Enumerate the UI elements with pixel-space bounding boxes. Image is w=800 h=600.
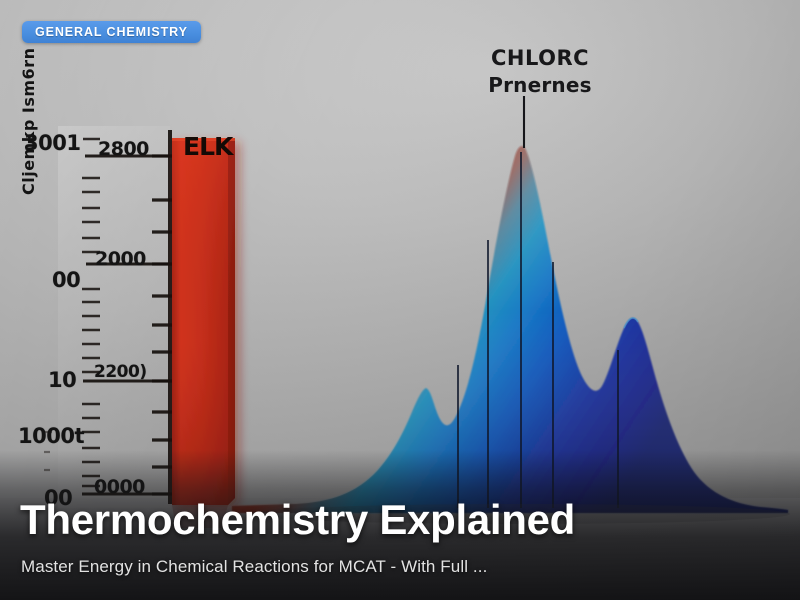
axis-spine (168, 130, 172, 504)
category-badge[interactable]: GENERAL CHEMISTRY (22, 21, 201, 43)
peak-callout-line-2: Prnernes (440, 72, 640, 99)
page-subtitle: Master Energy in Chemical Reactions for … (21, 557, 487, 577)
category-badge-label: GENERAL CHEMISTRY (35, 25, 188, 39)
y-axis-tick-label-2800: 2800 (98, 138, 149, 160)
y-axis-title: Cljemkp Ism6rn (19, 48, 38, 195)
y-axis-outer-label-3: 1000t (18, 424, 84, 448)
y-axis-outer-label-2: 10 (48, 368, 76, 392)
peak-callout: CHLORC Prnernes (440, 44, 640, 99)
y-axis-tick-label-2000: 2000 (95, 248, 146, 270)
peak-callout-line-1: CHLORC (440, 44, 640, 72)
y-axis-outer-label-0: 3001 (24, 131, 80, 155)
screenshot-canvas: GENERAL CHEMISTRY Cljemkp Ism6rn 3001 00… (0, 0, 800, 600)
page-title: Thermochemistry Explained (20, 496, 575, 544)
y-axis-outer-label-1: 00 (52, 268, 80, 292)
energy-bar-label: ELK (183, 132, 232, 161)
y-axis-tick-label-2200: 2200) (94, 362, 147, 382)
